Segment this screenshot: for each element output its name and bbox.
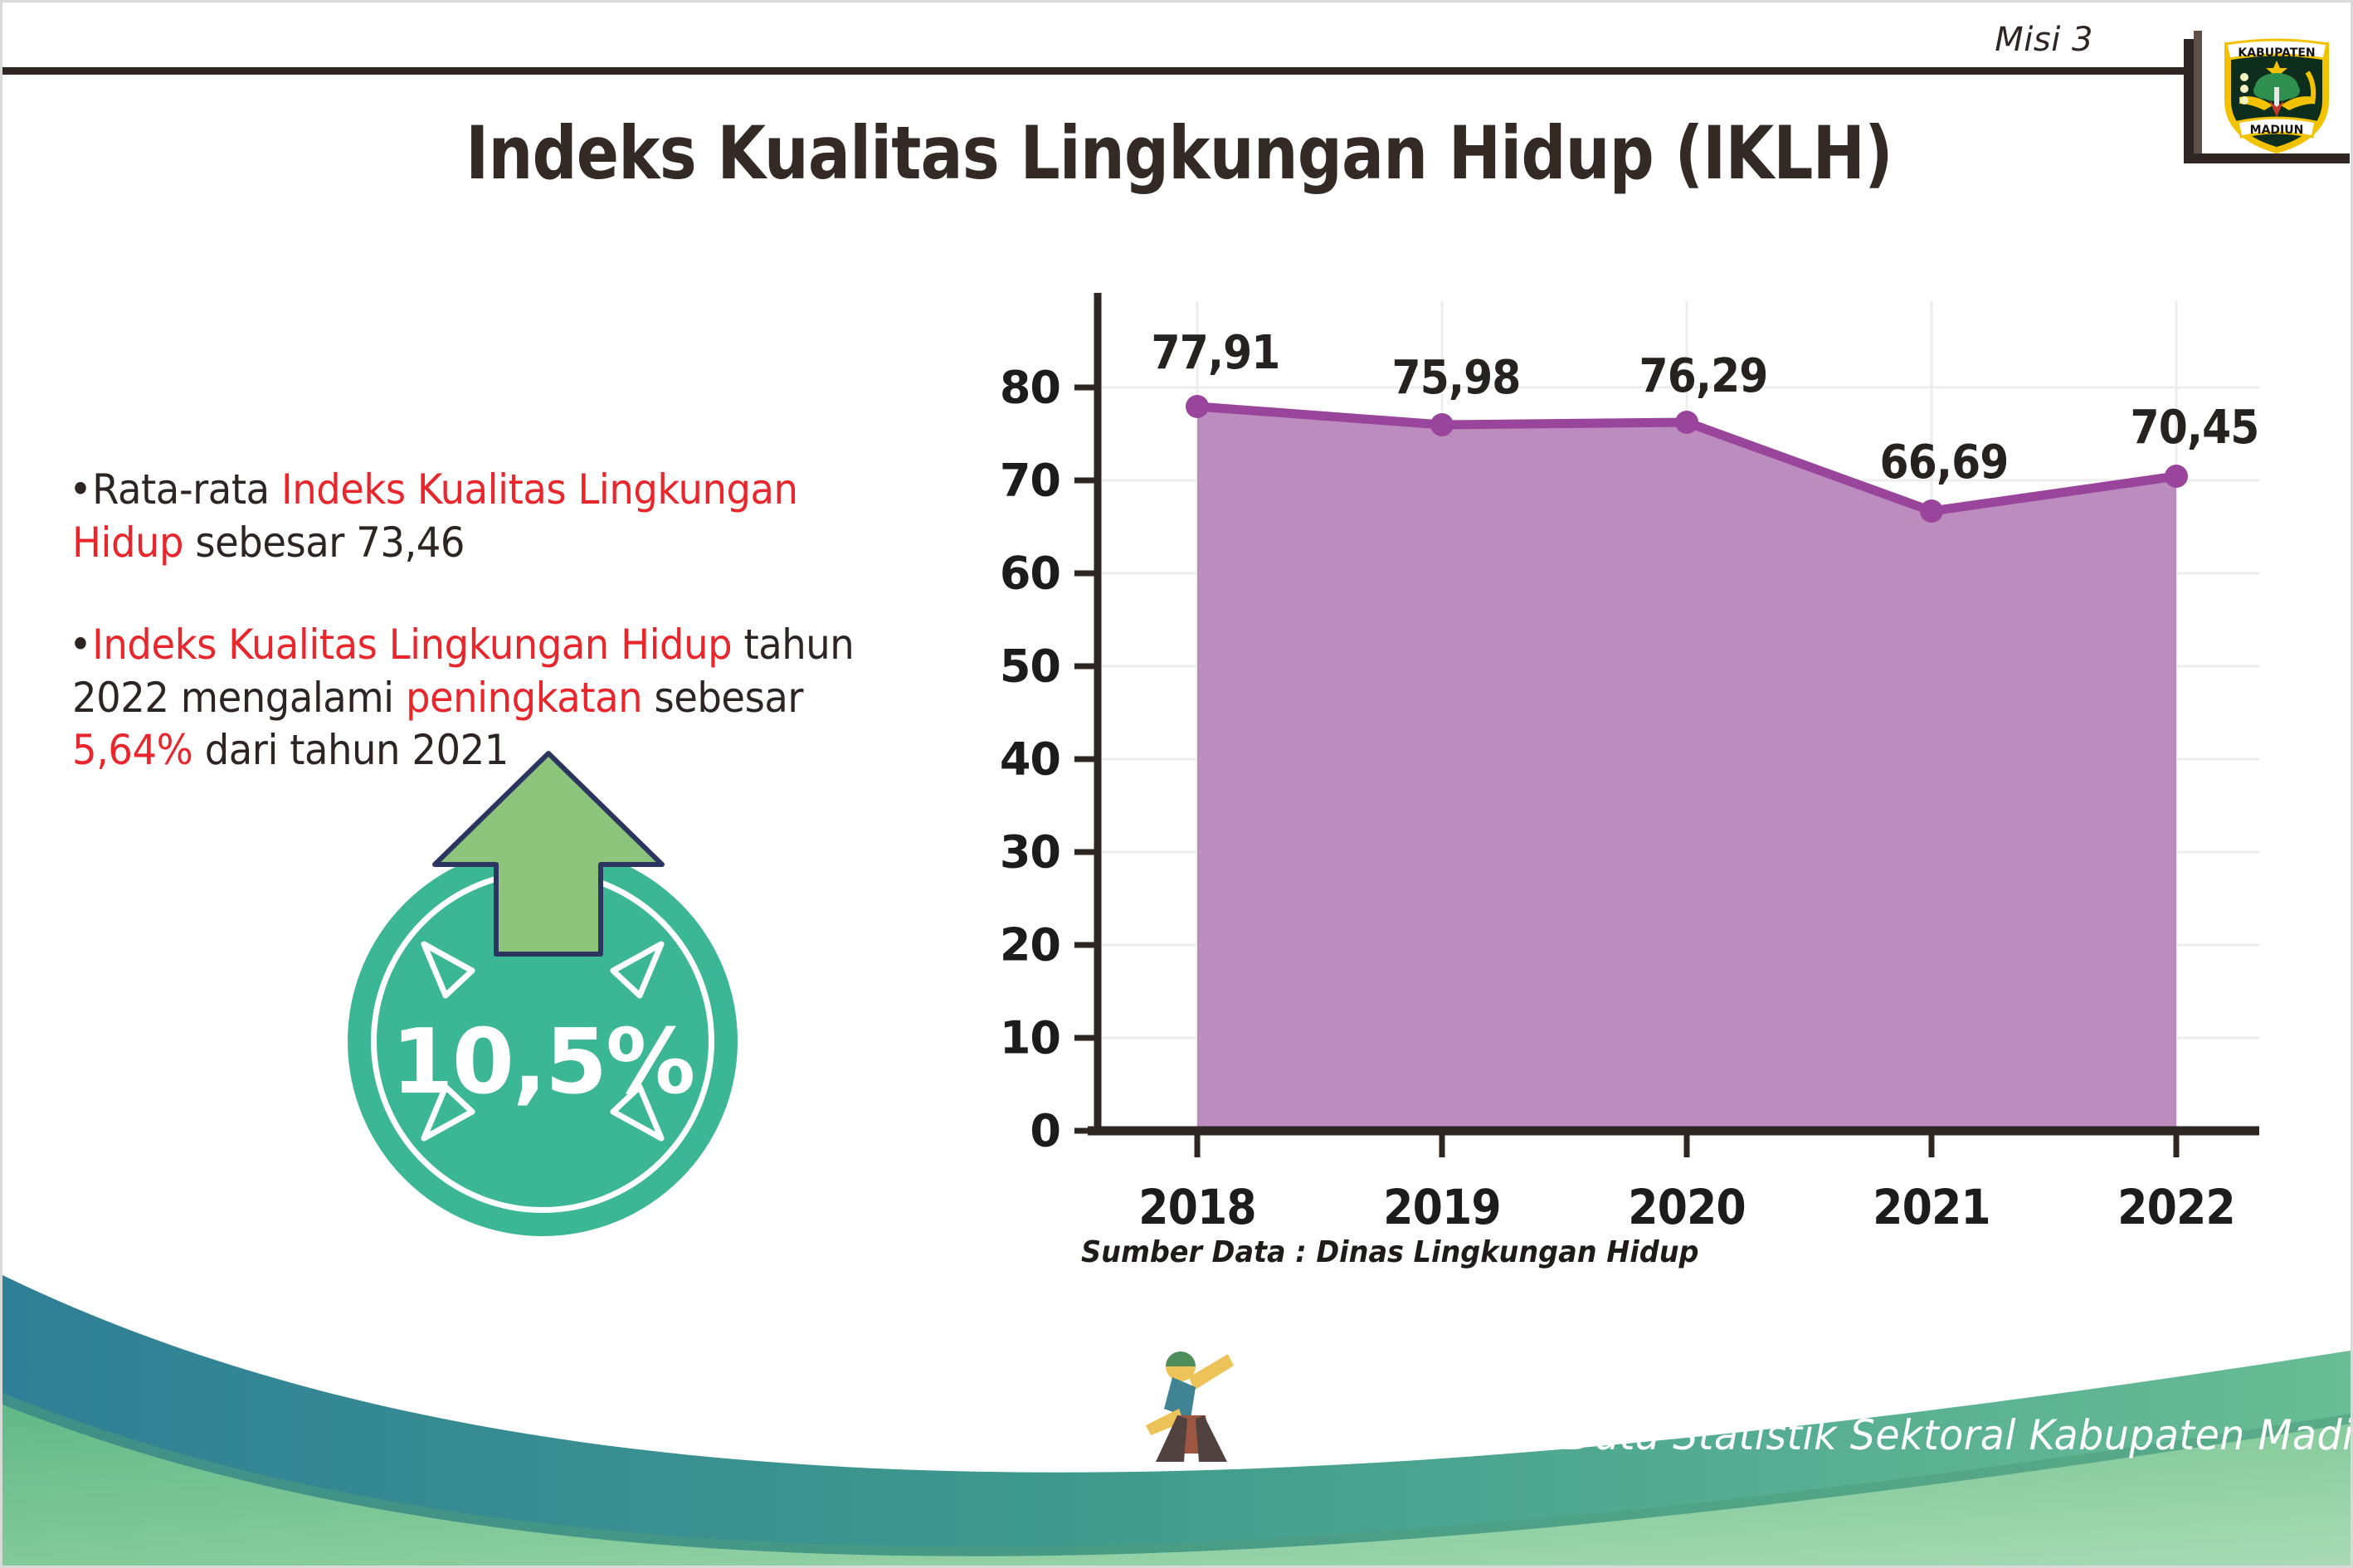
footer-banner: Media Infografis Data Statistik Sektoral… xyxy=(2,1250,2353,1566)
y-tick-label-10: 10 xyxy=(969,1012,1060,1064)
dancer-figure-icon xyxy=(1141,1329,1240,1474)
x-tick-label-2021: 2021 xyxy=(1849,1179,2014,1235)
badge-value: 10,5% xyxy=(348,1010,738,1114)
data-label-2019: 75,98 xyxy=(1359,351,1553,405)
y-tick-label-40: 40 xyxy=(969,733,1060,786)
y-tick-label-20: 20 xyxy=(969,919,1060,971)
bullet-list: • Rata-rata Indeks Kualitas Lingkungan H… xyxy=(72,464,952,777)
area-fill xyxy=(1197,407,2176,1131)
x-tick-label-2022: 2022 xyxy=(2094,1179,2258,1235)
iklh-area-chart: 0 10 20 30 40 50 60 70 80 2018 2019 2020… xyxy=(982,285,2276,1205)
y-tick-label-60: 60 xyxy=(969,548,1060,600)
kabupaten-madiun-crest-icon: KABUPATEN MADIUN xyxy=(2214,24,2339,157)
misi-label: Misi 3 xyxy=(1995,21,2093,59)
arrow-up-icon xyxy=(428,747,669,987)
page-title: Indeks Kualitas Lingkungan Hidup (IKLH) xyxy=(168,110,2191,196)
data-label-2021: 66,69 xyxy=(1847,436,2041,489)
data-label-2020: 76,29 xyxy=(1606,349,1800,403)
infographic-page: Misi 3 KABUPATEN MADIUN Indeks Kualitas … xyxy=(0,0,2353,1568)
bullet-dot-icon: • xyxy=(69,619,91,672)
svg-text:MADIUN: MADIUN xyxy=(2250,124,2304,137)
svg-text:KABUPATEN: KABUPATEN xyxy=(2238,46,2315,60)
x-tick-label-2020: 2020 xyxy=(1605,1179,1769,1235)
y-tick-label-30: 30 xyxy=(969,826,1060,879)
y-tick-label-0: 0 xyxy=(969,1105,1060,1157)
bullet-item-0: • Rata-rata Indeks Kualitas Lingkungan H… xyxy=(72,464,890,569)
header-divider-rule xyxy=(2,67,2190,75)
data-label-2018: 77,91 xyxy=(1118,326,1313,380)
bullet-dot-icon: • xyxy=(69,464,91,517)
data-label-2022: 70,45 xyxy=(2097,401,2292,455)
y-tick-label-50: 50 xyxy=(969,640,1060,693)
x-tick-label-2019: 2019 xyxy=(1360,1179,1524,1235)
y-tick-label-70: 70 xyxy=(969,455,1060,507)
footer-caption: Media Infografis Data Statistik Sektoral… xyxy=(1229,1411,2353,1459)
bullet-text-0: Rata-rata Indeks Kualitas Lingkungan Hid… xyxy=(72,465,798,567)
x-tick-label-2018: 2018 xyxy=(1115,1179,1279,1235)
increase-badge: 10,5% xyxy=(320,753,768,1234)
logo-frame-shadow xyxy=(2194,31,2202,155)
y-tick-label-80: 80 xyxy=(969,362,1060,414)
chart-plot xyxy=(982,285,2276,1205)
